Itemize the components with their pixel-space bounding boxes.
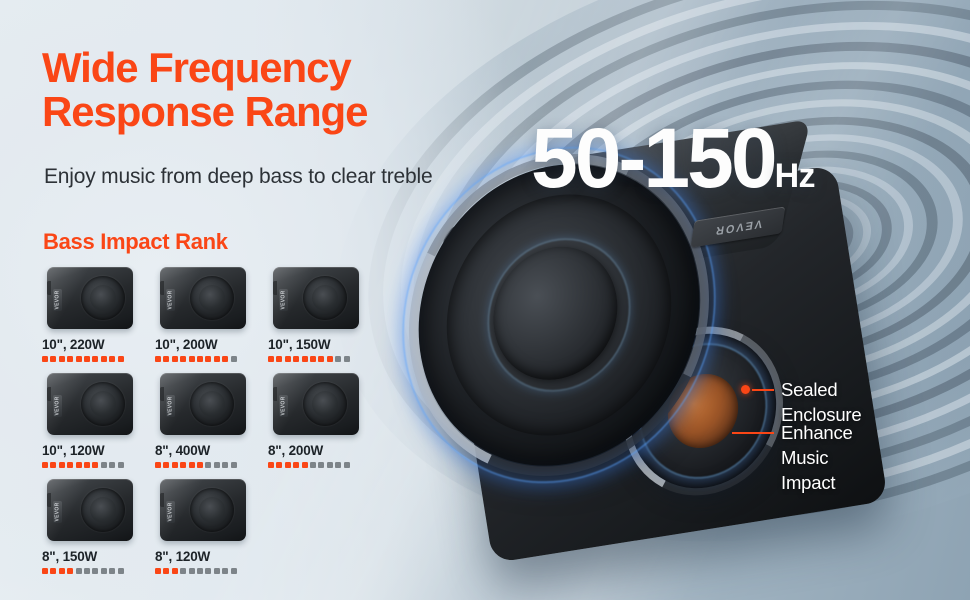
rank-card[interactable]: VEVOR10", 120W xyxy=(42,368,138,468)
score-dot-filled xyxy=(327,356,333,362)
subwoofer-thumbnail: VEVOR xyxy=(42,474,138,546)
score-dot-filled xyxy=(293,356,299,362)
speaker-cone xyxy=(81,276,125,320)
score-dot-empty xyxy=(109,568,115,574)
score-dot-filled xyxy=(92,356,98,362)
score-dot-filled xyxy=(197,462,203,468)
brand-badge: VEVOR xyxy=(53,395,62,417)
terminal-fin xyxy=(160,281,164,295)
rank-score-dots xyxy=(155,462,251,468)
score-dot-filled xyxy=(59,568,65,574)
rank-card-label: 8", 120W xyxy=(155,549,251,564)
score-dot-empty xyxy=(310,462,316,468)
score-dot-filled xyxy=(50,462,56,468)
score-dot-filled xyxy=(67,356,73,362)
score-dot-filled xyxy=(163,356,169,362)
rank-score-dots xyxy=(268,462,364,468)
brand-badge: VEVOR xyxy=(279,395,288,417)
score-dot-filled xyxy=(285,356,291,362)
score-dot-filled xyxy=(109,356,115,362)
score-dot-empty xyxy=(214,568,220,574)
infographic-canvas: VEVOR 50-150Hz Wide Frequency Response R… xyxy=(0,0,970,600)
score-dot-empty xyxy=(118,462,124,468)
score-dot-empty xyxy=(118,568,124,574)
score-dot-filled xyxy=(180,462,186,468)
score-dot-filled xyxy=(310,356,316,362)
score-dot-filled xyxy=(276,462,282,468)
score-dot-filled xyxy=(84,462,90,468)
score-dot-empty xyxy=(84,568,90,574)
score-dot-filled xyxy=(172,568,178,574)
brand-badge: VEVOR xyxy=(166,289,175,311)
rank-card-label: 10", 200W xyxy=(155,337,251,352)
headline-line-1: Wide Frequency xyxy=(42,44,351,91)
score-dot-filled xyxy=(172,356,178,362)
score-dot-empty xyxy=(214,462,220,468)
rank-card[interactable]: VEVOR8", 400W xyxy=(155,368,251,468)
headline-line-2: Response Range xyxy=(42,90,472,134)
score-dot-empty xyxy=(318,462,324,468)
speaker-cone xyxy=(190,382,234,426)
subwoofer-thumbnail: VEVOR xyxy=(268,262,364,334)
score-dot-filled xyxy=(50,568,56,574)
score-dot-empty xyxy=(101,568,107,574)
rank-score-dots xyxy=(268,356,364,362)
frequency-unit: Hz xyxy=(775,157,815,195)
terminal-fin xyxy=(160,387,164,401)
score-dot-filled xyxy=(163,568,169,574)
callout-dot-icon xyxy=(741,385,750,394)
score-dot-filled xyxy=(84,356,90,362)
rank-card[interactable]: VEVOR10", 150W xyxy=(268,262,364,362)
score-dot-filled xyxy=(293,462,299,468)
speaker-cone xyxy=(190,488,234,532)
rank-row: VEVOR8", 150WVEVOR8", 120W xyxy=(42,474,392,574)
score-dot-empty xyxy=(197,568,203,574)
rank-card[interactable]: VEVOR8", 120W xyxy=(155,474,251,574)
subwoofer-thumbnail: VEVOR xyxy=(155,474,251,546)
score-dot-filled xyxy=(318,356,324,362)
rank-card[interactable]: VEVOR8", 150W xyxy=(42,474,138,574)
score-dot-empty xyxy=(92,568,98,574)
score-dot-filled xyxy=(92,462,98,468)
score-dot-filled xyxy=(67,462,73,468)
brand-badge: VEVOR xyxy=(166,501,175,523)
score-dot-filled xyxy=(268,356,274,362)
rank-card-label: 10", 220W xyxy=(42,337,138,352)
rank-score-dots xyxy=(42,462,138,468)
score-dot-filled xyxy=(101,356,107,362)
score-dot-filled xyxy=(155,568,161,574)
rank-score-dots xyxy=(42,568,138,574)
score-dot-filled xyxy=(214,356,220,362)
callout-label: Enhance Music Impact xyxy=(781,421,853,496)
score-dot-empty xyxy=(109,462,115,468)
brand-name: VEVOR xyxy=(713,217,763,237)
score-dot-filled xyxy=(276,356,282,362)
score-dot-filled xyxy=(42,356,48,362)
speaker-cone xyxy=(303,382,347,426)
speaker-cone xyxy=(190,276,234,320)
rank-card-label: 8", 200W xyxy=(268,443,364,458)
score-dot-filled xyxy=(42,462,48,468)
subwoofer-body: VEVOR xyxy=(160,267,246,329)
rank-card[interactable]: VEVOR8", 200W xyxy=(268,368,364,468)
terminal-fin xyxy=(47,281,51,295)
score-dot-empty xyxy=(344,462,350,468)
rank-card[interactable]: VEVOR10", 200W xyxy=(155,262,251,362)
callout-leader-line xyxy=(732,432,774,434)
score-dot-filled xyxy=(189,356,195,362)
score-dot-empty xyxy=(335,356,341,362)
rank-card-label: 10", 150W xyxy=(268,337,364,352)
subwoofer-body: VEVOR xyxy=(47,267,133,329)
score-dot-filled xyxy=(197,356,203,362)
score-dot-empty xyxy=(180,568,186,574)
bass-impact-rank-grid: VEVOR10", 220WVEVOR10", 200WVEVOR10", 15… xyxy=(42,262,392,580)
terminal-fin xyxy=(160,493,164,507)
rank-card[interactable]: VEVOR10", 220W xyxy=(42,262,138,362)
callout-leader-line xyxy=(752,389,774,391)
terminal-fin xyxy=(273,281,277,295)
terminal-fin xyxy=(47,387,51,401)
score-dot-empty xyxy=(231,356,237,362)
frequency-range-display: 50-150Hz xyxy=(531,116,815,200)
page-title: Wide Frequency Response Range xyxy=(42,46,472,133)
rank-score-dots xyxy=(42,356,138,362)
subwoofer-body: VEVOR xyxy=(273,267,359,329)
subwoofer-body: VEVOR xyxy=(47,373,133,435)
brand-badge: VEVOR xyxy=(53,289,62,311)
score-dot-filled xyxy=(302,356,308,362)
subwoofer-thumbnail: VEVOR xyxy=(268,368,364,440)
score-dot-filled xyxy=(67,568,73,574)
subwoofer-body: VEVOR xyxy=(273,373,359,435)
score-dot-filled xyxy=(302,462,308,468)
bass-impact-rank-title: Bass Impact Rank xyxy=(43,229,228,255)
score-dot-empty xyxy=(222,462,228,468)
score-dot-empty xyxy=(335,462,341,468)
score-dot-empty xyxy=(101,462,107,468)
rank-row: VEVOR10", 220WVEVOR10", 200WVEVOR10", 15… xyxy=(42,262,392,362)
score-dot-filled xyxy=(76,462,82,468)
brand-badge: VEVOR xyxy=(279,289,288,311)
subtitle: Enjoy music from deep bass to clear treb… xyxy=(44,165,484,189)
rank-card-label: 8", 400W xyxy=(155,443,251,458)
score-dot-filled xyxy=(59,356,65,362)
subwoofer-body: VEVOR xyxy=(160,373,246,435)
score-dot-empty xyxy=(205,568,211,574)
rank-score-dots xyxy=(155,356,251,362)
score-dot-empty xyxy=(327,462,333,468)
rank-row: VEVOR10", 120WVEVOR8", 400WVEVOR8", 200W xyxy=(42,368,392,468)
score-dot-empty xyxy=(344,356,350,362)
hero-subwoofer-image xyxy=(396,150,970,600)
terminal-fin xyxy=(273,387,277,401)
rank-score-dots xyxy=(155,568,251,574)
score-dot-empty xyxy=(189,568,195,574)
speaker-cone xyxy=(303,276,347,320)
score-dot-filled xyxy=(222,356,228,362)
speaker-cone xyxy=(81,382,125,426)
score-dot-filled xyxy=(189,462,195,468)
score-dot-filled xyxy=(118,356,124,362)
subwoofer-thumbnail: VEVOR xyxy=(42,368,138,440)
score-dot-filled xyxy=(155,462,161,468)
speaker-cone xyxy=(81,488,125,532)
brand-badge: VEVOR xyxy=(166,395,175,417)
score-dot-filled xyxy=(285,462,291,468)
subwoofer-body: VEVOR xyxy=(160,479,246,541)
score-dot-filled xyxy=(50,356,56,362)
score-dot-empty xyxy=(231,568,237,574)
score-dot-filled xyxy=(163,462,169,468)
score-dot-filled xyxy=(180,356,186,362)
rank-card-label: 8", 150W xyxy=(42,549,138,564)
score-dot-filled xyxy=(42,568,48,574)
score-dot-filled xyxy=(59,462,65,468)
score-dot-filled xyxy=(172,462,178,468)
score-dot-filled xyxy=(76,356,82,362)
score-dot-empty xyxy=(231,462,237,468)
terminal-fin xyxy=(47,493,51,507)
score-dot-empty xyxy=(222,568,228,574)
frequency-range-value: 50-150 xyxy=(531,111,775,205)
score-dot-filled xyxy=(205,356,211,362)
score-dot-empty xyxy=(76,568,82,574)
score-dot-filled xyxy=(155,356,161,362)
subwoofer-thumbnail: VEVOR xyxy=(155,368,251,440)
brand-badge: VEVOR xyxy=(53,501,62,523)
score-dot-filled xyxy=(268,462,274,468)
subwoofer-body: VEVOR xyxy=(47,479,133,541)
subwoofer-thumbnail: VEVOR xyxy=(155,262,251,334)
score-dot-empty xyxy=(205,462,211,468)
subwoofer-thumbnail: VEVOR xyxy=(42,262,138,334)
rank-card-label: 10", 120W xyxy=(42,443,138,458)
